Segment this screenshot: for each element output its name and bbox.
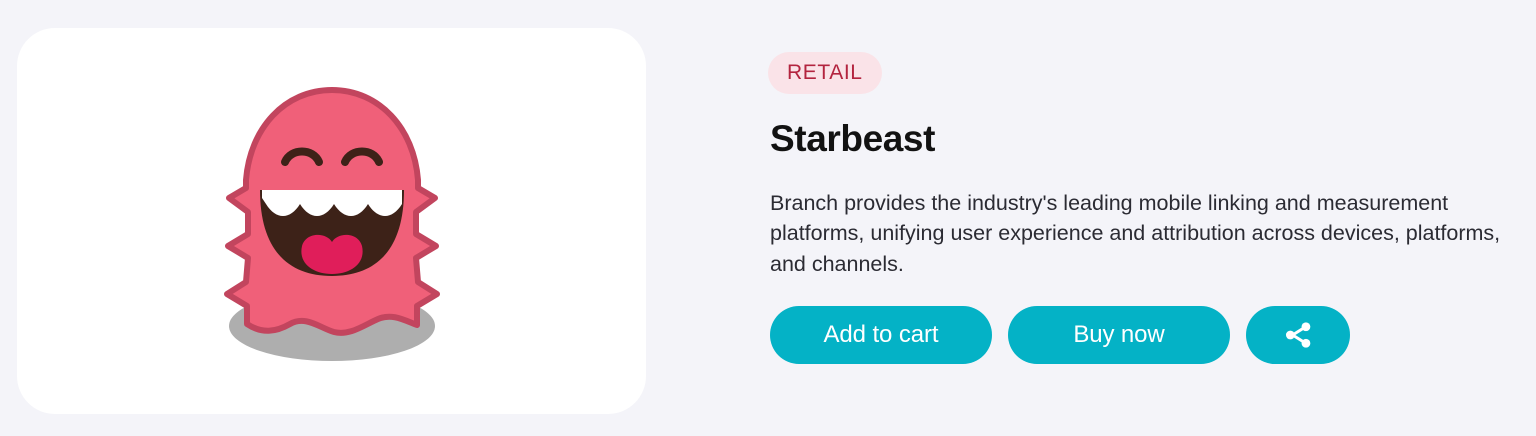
product-actions: Add to cart Buy now — [770, 306, 1528, 364]
product-detail-page: RETAIL Starbeast Branch provides the ind… — [0, 0, 1536, 436]
product-image-card — [17, 28, 646, 414]
share-icon — [1281, 318, 1315, 352]
product-title: Starbeast — [770, 119, 1528, 160]
product-image — [202, 76, 462, 366]
pink-monster-mascot-icon — [202, 76, 462, 366]
product-info-panel: RETAIL Starbeast Branch provides the ind… — [768, 52, 1528, 364]
share-button[interactable] — [1246, 306, 1350, 364]
category-badge: RETAIL — [768, 52, 882, 94]
product-description: Branch provides the industry's leading m… — [770, 188, 1528, 280]
buy-now-button[interactable]: Buy now — [1008, 306, 1230, 364]
add-to-cart-button[interactable]: Add to cart — [770, 306, 992, 364]
